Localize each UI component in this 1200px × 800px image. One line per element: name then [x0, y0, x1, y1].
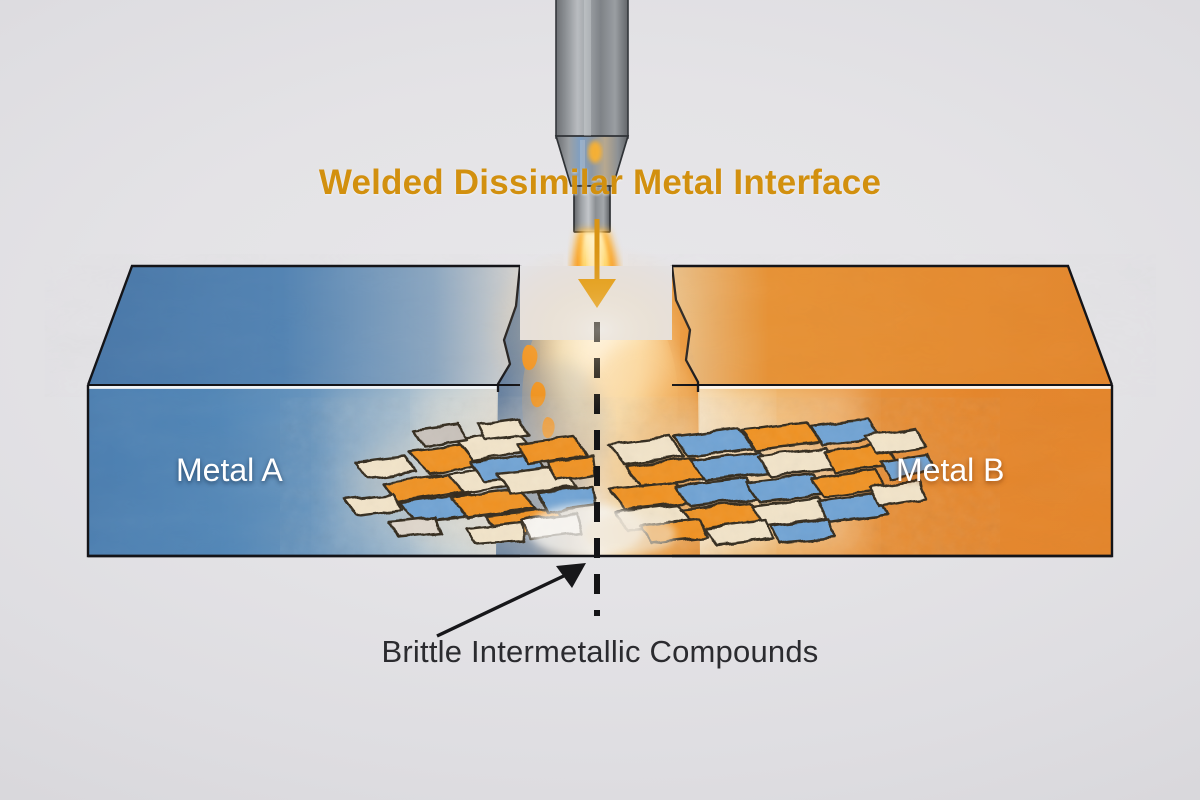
flame-spark [588, 141, 602, 163]
diagram-svg [0, 0, 1200, 800]
diagram-canvas: Welded Dissimilar Metal Interface Metal … [0, 0, 1200, 800]
metal-b-top-mottle [672, 266, 1112, 385]
metal-a-top-mottle [88, 266, 520, 385]
weld-ambient-glow [480, 244, 720, 416]
torch-highlight [584, 0, 591, 136]
torch-shoulder-highlight [580, 140, 585, 184]
welding-torch [556, 0, 628, 232]
torch-nozzle [574, 186, 610, 232]
imc-leader-head [556, 563, 586, 588]
brittle-intermetallic-band [340, 410, 940, 556]
torch-barrel [556, 0, 628, 138]
imc-leader-arrow [437, 563, 586, 636]
imc-leader-line [437, 573, 570, 636]
